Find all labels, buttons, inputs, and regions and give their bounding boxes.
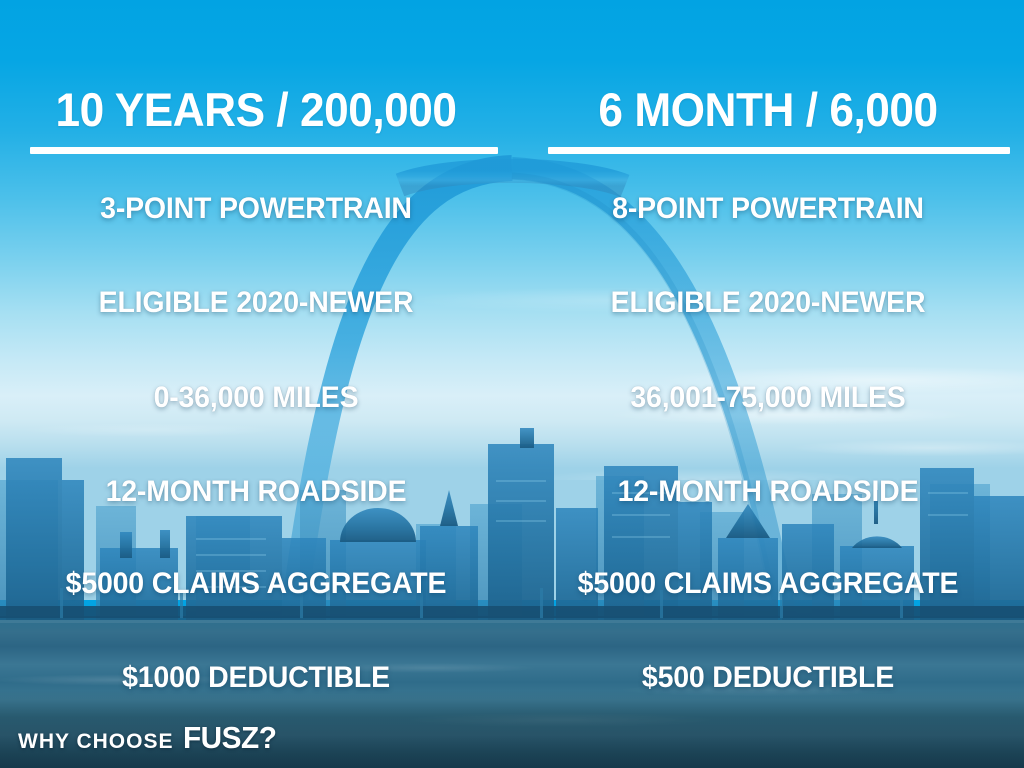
plan-column-ten-year: 10 YEARS / 200,000 3-POINT POWERTRAIN EL… [0,0,512,768]
plan-heading-rule-ten-year [30,147,498,154]
feature-item: 12-MONTH ROADSIDE [13,477,499,507]
plan-heading-ten-year: 10 YEARS / 200,000 [15,86,496,133]
plan-column-six-month: 6 MONTH / 6,000 8-POINT POWERTRAIN ELIGI… [512,0,1024,768]
brand-name-text: FUSZ? [183,720,276,756]
plan-heading-six-month: 6 MONTH / 6,000 [527,86,1008,133]
feature-item: 0-36,000 MILES [13,383,499,413]
feature-item: $500 DEDUCTIBLE [525,663,1011,693]
feature-item: 36,001-75,000 MILES [525,383,1011,413]
slide-content: 10 YEARS / 200,000 3-POINT POWERTRAIN EL… [0,0,1024,768]
feature-item: $5000 CLAIMS AGGREGATE [13,569,499,599]
plan-heading-rule-six-month [548,147,1010,154]
slide-canvas: 10 YEARS / 200,000 3-POINT POWERTRAIN EL… [0,0,1024,768]
feature-item: 3-POINT POWERTRAIN [13,194,499,224]
feature-item: $5000 CLAIMS AGGREGATE [525,569,1011,599]
feature-item: ELIGIBLE 2020-NEWER [525,288,1011,318]
feature-item: 12-MONTH ROADSIDE [525,477,1011,507]
feature-item: 8-POINT POWERTRAIN [525,194,1011,224]
feature-item: $1000 DEDUCTIBLE [13,663,499,693]
brand-lockup: WHY CHOOSE FUSZ? [18,720,279,756]
feature-item: ELIGIBLE 2020-NEWER [13,288,499,318]
brand-why-choose-text: WHY CHOOSE [18,730,173,754]
